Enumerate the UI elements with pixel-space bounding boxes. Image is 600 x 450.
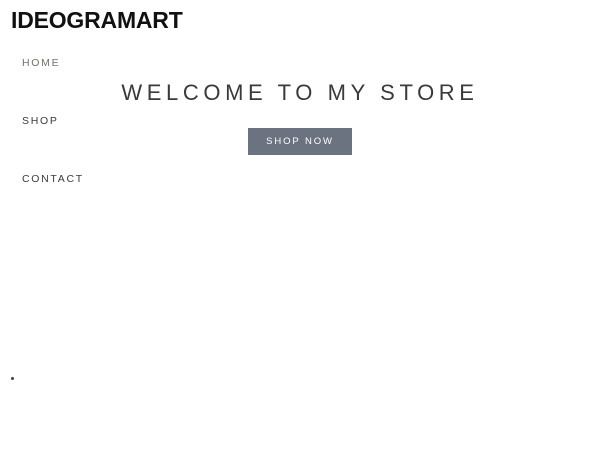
nav-item-home[interactable]: HOME: [0, 56, 140, 114]
site-header: IDEOGRAMART: [0, 0, 600, 42]
hero-title: WELCOME TO MY STORE: [120, 78, 480, 108]
nav-item-shop[interactable]: SHOP: [0, 114, 140, 172]
hero-section: WELCOME TO MY STORE SHOP NOW: [120, 78, 480, 155]
page-root: IDEOGRAMART HOME SHOP CONTACT WELCOME TO…: [0, 0, 600, 450]
list-item[interactable]: [24, 372, 584, 386]
nav-item-contact[interactable]: CONTACT: [0, 172, 140, 230]
shop-now-button[interactable]: SHOP NOW: [248, 128, 352, 155]
hero-cta-wrapper: SHOP NOW: [120, 128, 480, 155]
site-logo[interactable]: IDEOGRAMART: [11, 6, 183, 34]
footer-list: [0, 372, 584, 386]
main-navigation: HOME SHOP CONTACT: [0, 56, 140, 230]
